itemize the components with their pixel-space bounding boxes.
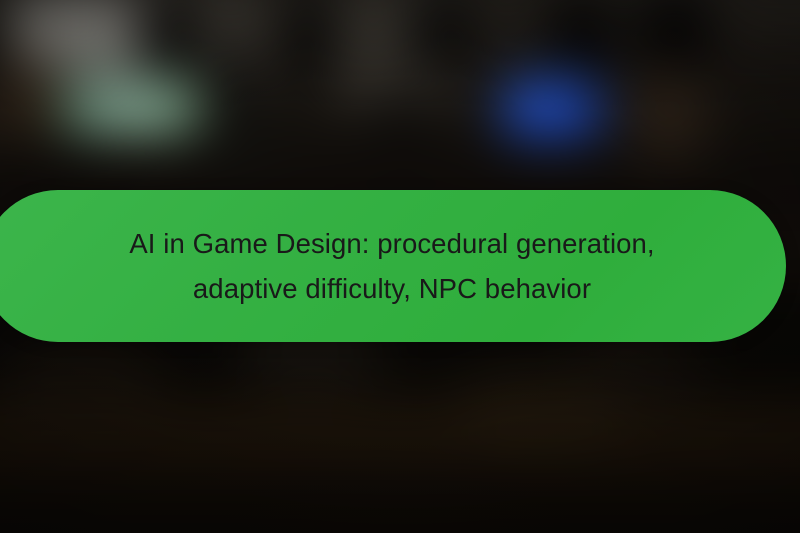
title-banner-text: AI in Game Design: procedural generation… bbox=[115, 221, 668, 311]
title-banner: AI in Game Design: procedural generation… bbox=[0, 190, 786, 342]
screenshot-canvas: AI in Game Design: procedural generation… bbox=[0, 0, 800, 533]
title-line-1: AI in Game Design: procedural generation… bbox=[129, 221, 654, 266]
title-line-2: adaptive difficulty, NPC behavior bbox=[129, 266, 654, 311]
